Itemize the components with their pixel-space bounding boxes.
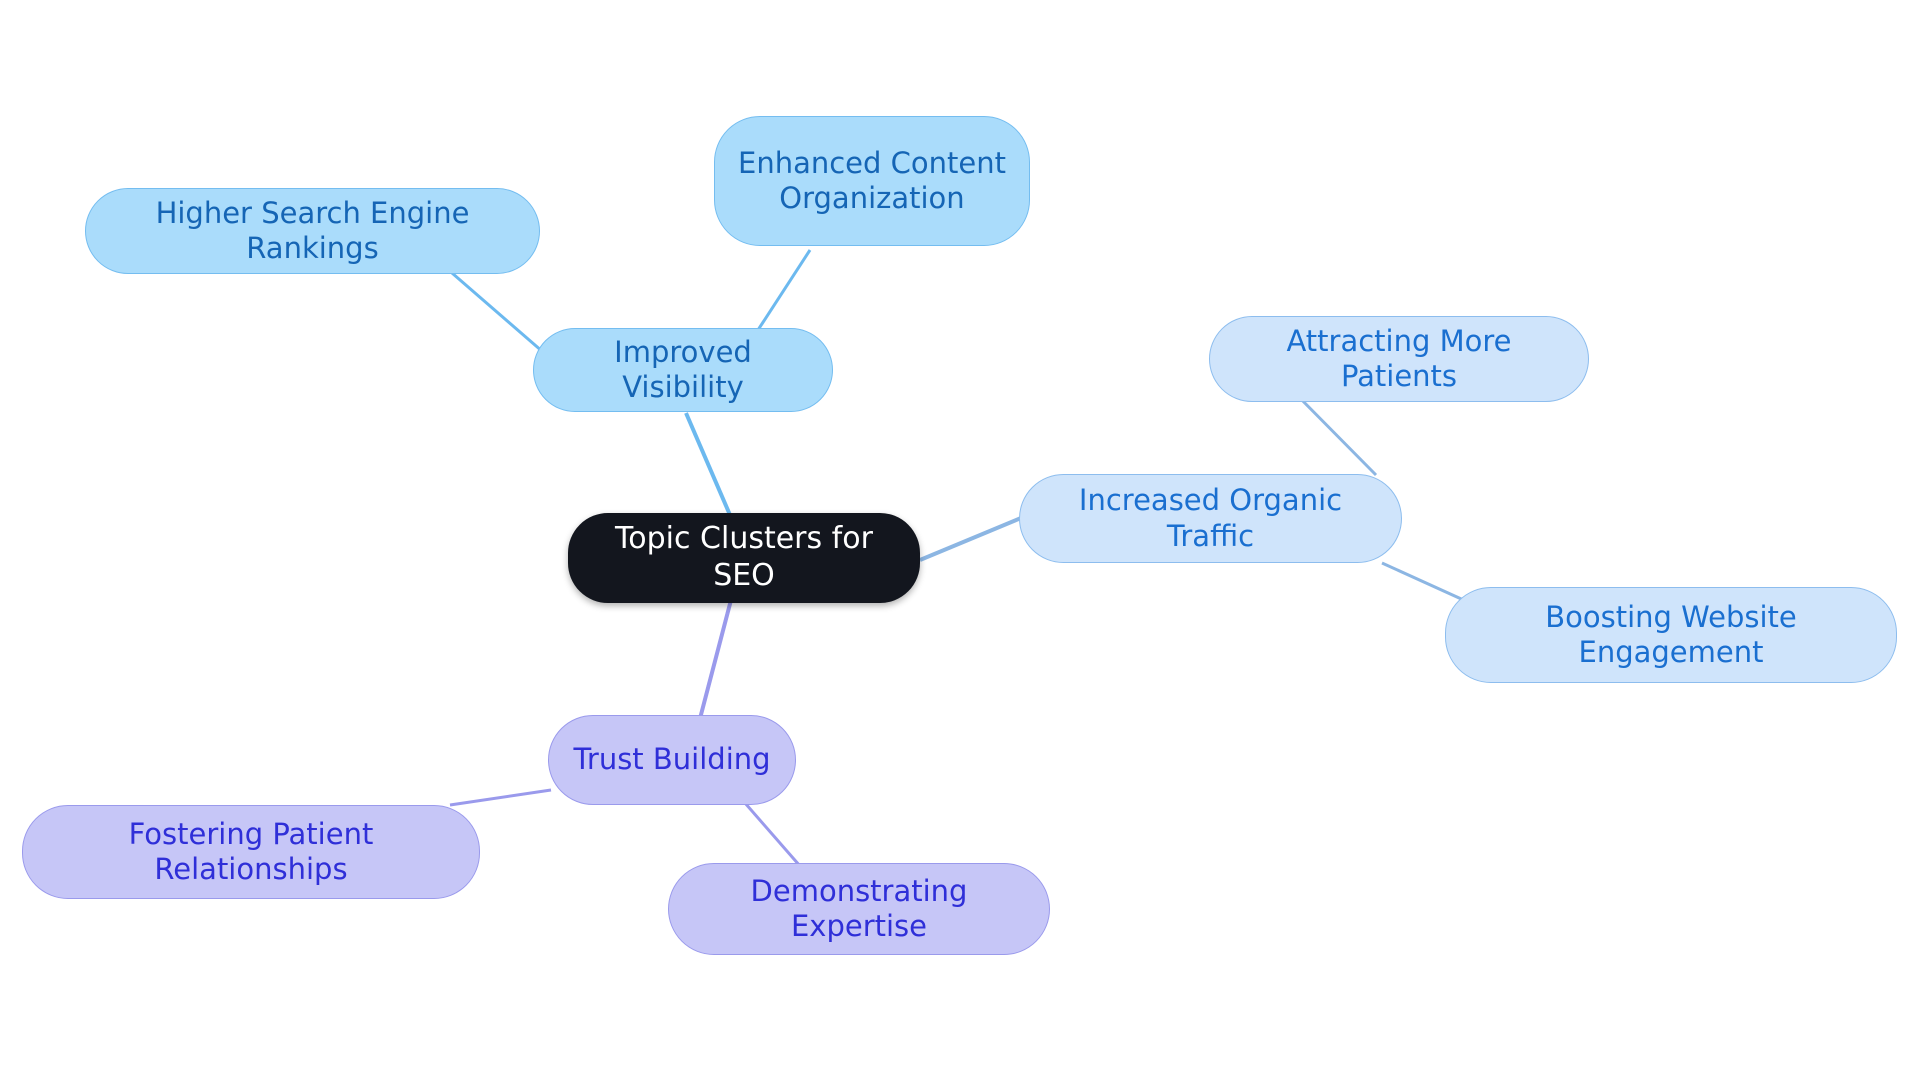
node-leaf-demonstrating-expertise[interactable]: Demonstrating Expertise — [668, 863, 1050, 955]
mindmap-canvas: Topic Clusters for SEO Improved Visibili… — [0, 0, 1920, 1083]
edge-trust-building-to-fostering-patient-relationships — [450, 790, 551, 805]
node-branch-improved-visibility[interactable]: Improved Visibility — [533, 328, 833, 412]
node-leaf-higher-search-engine-rankings[interactable]: Higher Search Engine Rankings — [85, 188, 540, 274]
edge-root-to-improved-visibility — [686, 413, 730, 515]
node-branch-trust-building[interactable]: Trust Building — [548, 715, 796, 805]
node-leaf-attracting-more-patients[interactable]: Attracting More Patients — [1209, 316, 1589, 402]
node-leaf-boosting-website-engagement-label: Boosting Website Engagement — [1464, 600, 1878, 671]
node-leaf-higher-search-engine-rankings-label: Higher Search Engine Rankings — [104, 196, 521, 267]
node-leaf-enhanced-content-organization-label: Enhanced Content Organization — [738, 146, 1006, 217]
node-branch-trust-building-label: Trust Building — [573, 742, 770, 777]
edge-root-to-trust-building — [697, 600, 731, 730]
edge-root-to-increased-organic-traffic — [920, 518, 1021, 560]
node-branch-increased-organic-traffic-label: Increased Organic Traffic — [1038, 483, 1383, 554]
edge-trust-building-to-demonstrating-expertise — [738, 795, 800, 866]
node-leaf-attracting-more-patients-label: Attracting More Patients — [1228, 324, 1570, 395]
node-branch-improved-visibility-label: Improved Visibility — [552, 335, 814, 406]
node-root-topic-clusters-for-seo[interactable]: Topic Clusters for SEO — [568, 513, 920, 603]
node-root-label: Topic Clusters for SEO — [587, 521, 901, 594]
node-leaf-demonstrating-expertise-label: Demonstrating Expertise — [687, 874, 1031, 945]
edge-improved-visibility-to-higher-search-engine-rankings — [452, 273, 543, 352]
node-leaf-fostering-patient-relationships-label: Fostering Patient Relationships — [41, 817, 461, 888]
node-branch-increased-organic-traffic[interactable]: Increased Organic Traffic — [1019, 474, 1402, 563]
node-leaf-boosting-website-engagement[interactable]: Boosting Website Engagement — [1445, 587, 1897, 683]
node-leaf-enhanced-content-organization[interactable]: Enhanced Content Organization — [714, 116, 1030, 246]
node-leaf-fostering-patient-relationships[interactable]: Fostering Patient Relationships — [22, 805, 480, 899]
